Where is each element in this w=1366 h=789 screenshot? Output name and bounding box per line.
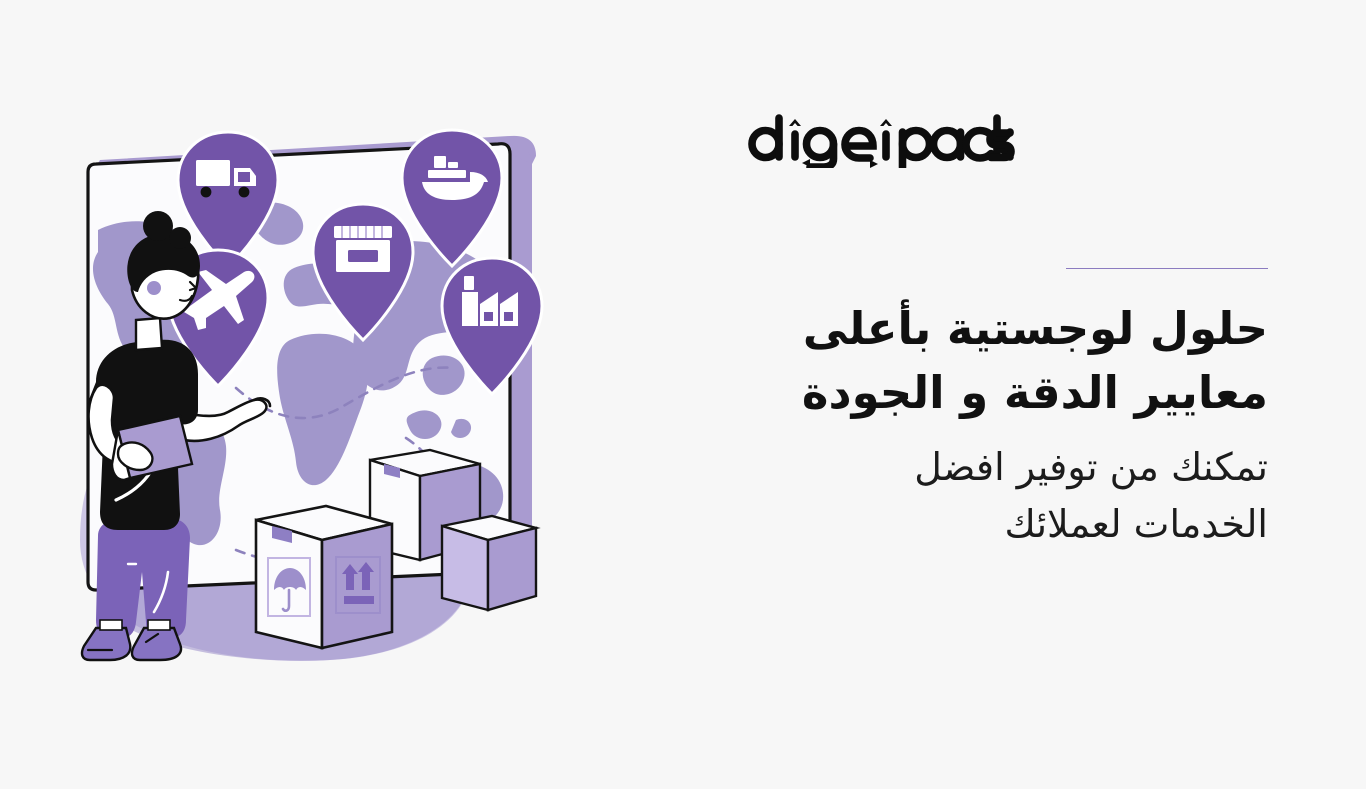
content-column: حلول لوجستية بأعلى معايير الدقة و الجودة…	[748, 110, 1268, 553]
digipacks-logo-icon	[748, 114, 1020, 168]
page-root: حلول لوجستية بأعلى معايير الدقة و الجودة…	[0, 0, 1366, 789]
box-right	[442, 516, 536, 610]
brand-logo[interactable]	[748, 110, 1268, 172]
page-title: حلول لوجستية بأعلى معايير الدقة و الجودة	[748, 297, 1268, 425]
shoe-left	[82, 628, 130, 660]
page-subtitle: تمكنك من توفير افضل الخدمات لعملائك	[748, 439, 1268, 553]
logistics-illustration	[40, 120, 640, 690]
logo-accents	[789, 119, 892, 126]
box-front	[256, 506, 392, 648]
section-divider	[1066, 268, 1268, 269]
store-icon	[334, 226, 392, 272]
